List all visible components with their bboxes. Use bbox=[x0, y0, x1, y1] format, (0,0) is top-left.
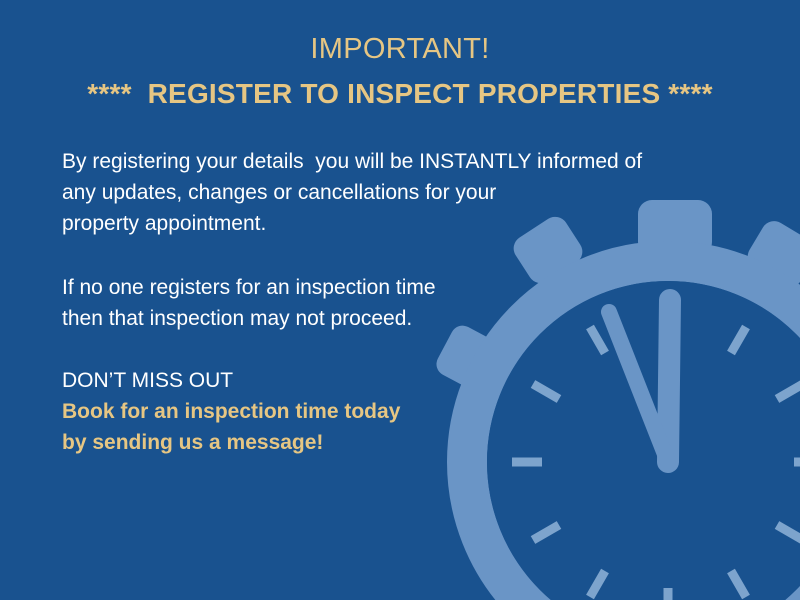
paragraph-1-line-3: property appointment. bbox=[62, 208, 722, 239]
paragraph-no-registration-warning: If no one registers for an inspection ti… bbox=[62, 272, 722, 334]
cta-bold-line-2: by sending us a message! bbox=[62, 427, 722, 458]
slide-canvas: IMPORTANT! **** REGISTER TO INSPECT PROP… bbox=[0, 0, 800, 600]
headline-block: IMPORTANT! **** REGISTER TO INSPECT PROP… bbox=[0, 30, 800, 114]
call-to-action-block: DON’T MISS OUT Book for an inspection ti… bbox=[62, 365, 722, 458]
headline-secondary: **** REGISTER TO INSPECT PROPERTIES **** bbox=[0, 74, 800, 114]
cta-bold-line-1: Book for an inspection time today bbox=[62, 396, 722, 427]
paragraph-registering-details: By registering your details you will be … bbox=[62, 146, 722, 239]
paragraph-1-line-2: any updates, changes or cancellations fo… bbox=[62, 177, 722, 208]
cta-lead-line: DON’T MISS OUT bbox=[62, 365, 722, 396]
headline-primary: IMPORTANT! bbox=[0, 30, 800, 68]
paragraph-2-line-2: then that inspection may not proceed. bbox=[62, 303, 722, 334]
paragraph-2-line-1: If no one registers for an inspection ti… bbox=[62, 272, 722, 303]
paragraph-1-line-1: By registering your details you will be … bbox=[62, 146, 722, 177]
slide-content: IMPORTANT! **** REGISTER TO INSPECT PROP… bbox=[0, 0, 800, 600]
